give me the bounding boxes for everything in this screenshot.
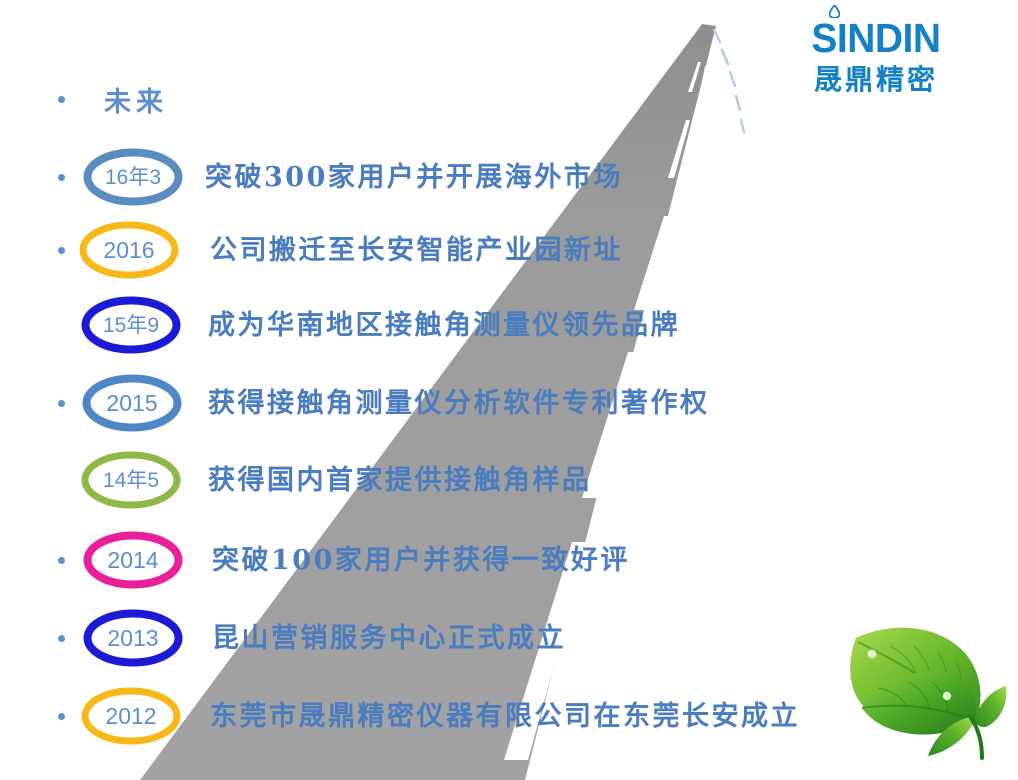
timeline-description: 东莞市晟鼎精密仪器有限公司在东莞长安成立	[210, 703, 800, 730]
year-badge: 2013	[83, 609, 183, 667]
water-drop-icon	[829, 5, 840, 18]
bullet-intro	[58, 96, 82, 103]
year-label: 16年3	[105, 167, 161, 188]
timeline-row: 2016公司搬迁至长安智能产业园新址	[0, 219, 623, 281]
year-badge: 2016	[79, 221, 179, 279]
bullet-icon	[58, 557, 82, 564]
year-badge: 16年3	[83, 148, 183, 206]
year-badge: 2012	[81, 687, 181, 745]
bullet-icon	[58, 713, 82, 720]
year-label: 2015	[106, 392, 157, 415]
year-label: 15年9	[103, 315, 159, 336]
timeline-intro-label: 未来	[104, 80, 168, 119]
timeline-description: 成为华南地区接触角测量仪领先品牌	[208, 312, 680, 339]
timeline-row: 2015获得接触角测量仪分析软件专利著作权	[0, 372, 710, 434]
timeline-description: 公司搬迁至长安智能产业园新址	[210, 237, 623, 264]
year-badge: 14年5	[81, 451, 181, 509]
bullet-icon	[58, 174, 82, 181]
timeline-description: 突破100家用户并获得一致好评	[212, 547, 630, 574]
timeline-intro-row: 未来	[0, 68, 168, 130]
year-label: 14年5	[103, 470, 159, 491]
year-badge: 15年9	[81, 296, 181, 354]
bullet-icon	[58, 635, 82, 642]
timeline-description: 突破300家用户并开展海外市场	[205, 164, 623, 191]
timeline-row: 16年3突破300家用户并开展海外市场	[0, 146, 623, 208]
year-badge: 2014	[83, 531, 183, 589]
sindin-logo: SINDIN 晟鼎精密	[808, 18, 944, 94]
year-label: 2013	[107, 627, 158, 650]
year-label: 2014	[107, 549, 158, 572]
timeline-row: 2014突破100家用户并获得一致好评	[0, 529, 630, 591]
slide-canvas: SINDIN 晟鼎精密	[0, 0, 1018, 780]
timeline-row: 15年9成为华南地区接触角测量仪领先品牌	[0, 294, 680, 356]
timeline-row: 2013昆山营销服务中心正式成立	[0, 607, 566, 669]
timeline-row: 14年5获得国内首家提供接触角样品	[0, 449, 592, 511]
year-label: 2012	[105, 705, 156, 728]
timeline-row: 2012东莞市晟鼎精密仪器有限公司在东莞长安成立	[0, 685, 800, 747]
timeline-description: 获得国内首家提供接触角样品	[208, 467, 592, 494]
bullet-icon	[58, 400, 82, 407]
year-badge: 2015	[82, 374, 182, 432]
logo-latin-text: SINDIN	[811, 18, 940, 59]
green-leaf-graphic	[828, 592, 1014, 778]
timeline-description: 昆山营销服务中心正式成立	[212, 625, 566, 652]
logo-chinese-text: 晟鼎精密	[808, 66, 944, 94]
timeline-description: 获得接触角测量仪分析软件专利著作权	[208, 390, 710, 417]
year-label: 2016	[103, 239, 154, 262]
